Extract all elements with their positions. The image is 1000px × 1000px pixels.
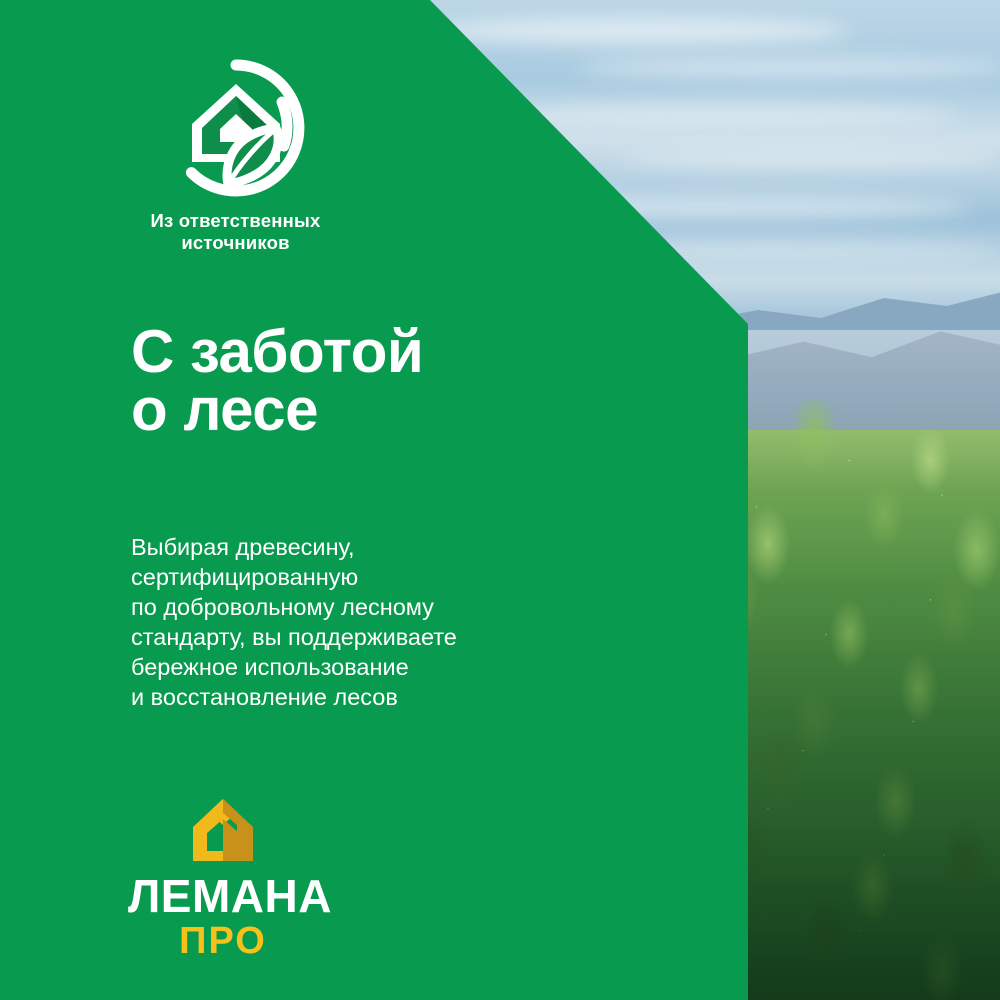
body-paragraph: Выбирая древесину, сертифицированную по … [131, 532, 457, 712]
brand-name: ЛЕМАНА [128, 873, 318, 919]
brand-lockup: ЛЕМАНА ПРО [128, 795, 318, 961]
page-title: С заботой о лесе [131, 323, 423, 439]
brand-subname: ПРО [128, 921, 318, 961]
cloud-wisp [480, 104, 960, 126]
certification-badge: Из ответственных источников [128, 58, 343, 254]
certification-badge-caption: Из ответственных источников [128, 210, 343, 254]
cloud-wisp [430, 18, 850, 44]
cloud-wisp [620, 150, 1000, 168]
poster-canvas: Из ответственных источников С заботой о … [0, 0, 1000, 1000]
cloud-wisp [580, 58, 1000, 78]
house-leaf-circle-icon [166, 58, 306, 198]
house-outline-icon [187, 795, 259, 867]
